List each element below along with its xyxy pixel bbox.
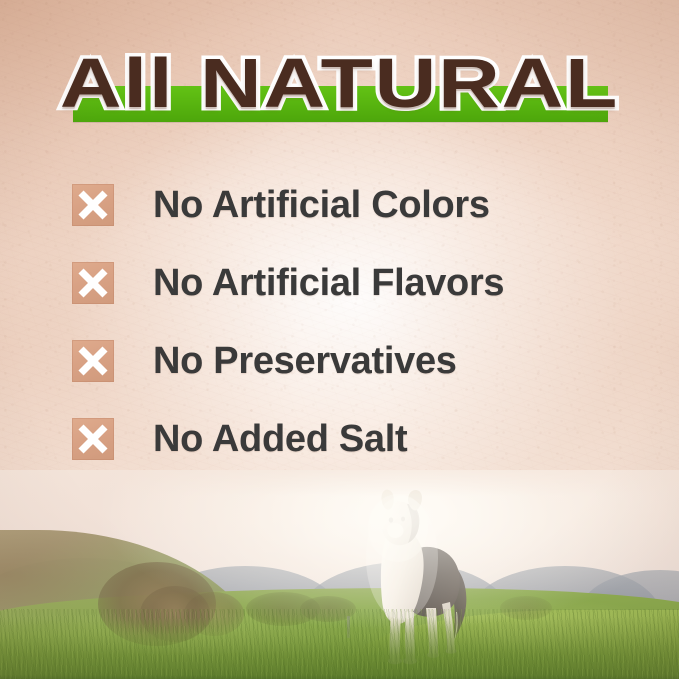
feature-label: No Artificial Flavors: [153, 262, 504, 304]
headline-area: All NATURAL: [0, 44, 679, 140]
x-mark-icon: [72, 340, 114, 382]
all-natural-banner: All NATURAL No Artificial Colors: [0, 0, 679, 679]
photo-top-blend: [0, 470, 679, 496]
feature-row: No Preservatives: [0, 322, 679, 400]
feature-label: No Added Salt: [153, 418, 407, 460]
landscape-photo: [0, 470, 679, 679]
feature-row: No Artificial Colors: [0, 166, 679, 244]
headline-title: All NATURAL: [0, 44, 679, 122]
photo-bottom-edge: [0, 675, 679, 679]
feature-list: No Artificial Colors No Artificial Flavo…: [0, 166, 679, 478]
foreground-grass-texture: [0, 609, 679, 679]
x-mark-icon: [72, 262, 114, 304]
feature-row: No Artificial Flavors: [0, 244, 679, 322]
feature-row: No Added Salt: [0, 400, 679, 478]
feature-label: No Preservatives: [153, 340, 457, 382]
feature-label: No Artificial Colors: [153, 184, 490, 226]
x-mark-icon: [72, 418, 114, 460]
x-mark-icon: [72, 184, 114, 226]
